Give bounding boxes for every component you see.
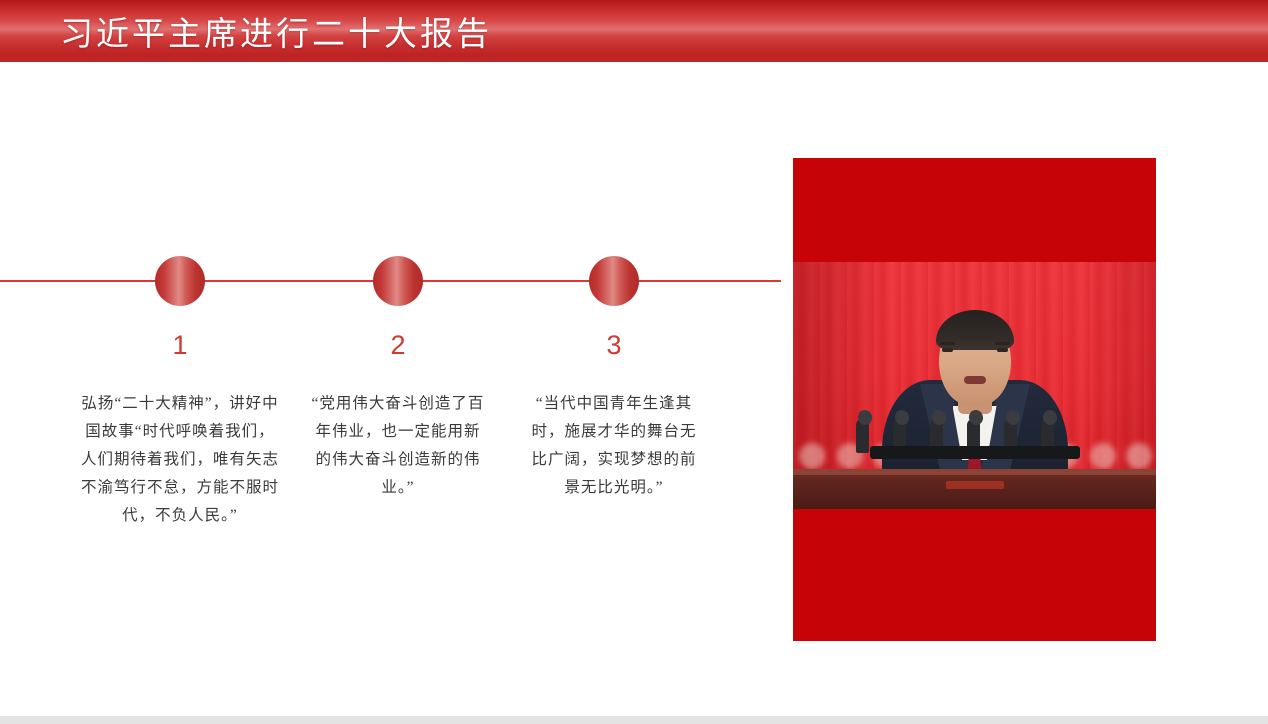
timeline-marker-icon bbox=[589, 256, 639, 306]
page-title: 习近平主席进行二十大报告 bbox=[60, 7, 492, 55]
podium bbox=[793, 469, 1156, 509]
microphone-icon bbox=[856, 419, 869, 453]
speaker-photo bbox=[793, 262, 1156, 509]
timeline-node-text: 弘扬“二十大精神”，讲好中国故事“时代呼唤着我们，人们期待着我们，唯有矢志不渝笃… bbox=[80, 390, 280, 530]
eye-right bbox=[997, 348, 1008, 352]
slide-canvas: 习近平主席进行二十大报告 1 弘扬“二十大精神”，讲好中国故事“时代呼唤着我们，… bbox=[0, 0, 1268, 724]
eyebrow-left bbox=[940, 342, 955, 345]
timeline-marker-icon bbox=[155, 256, 205, 306]
bottom-strip bbox=[0, 716, 1268, 724]
timeline-marker-icon bbox=[373, 256, 423, 306]
timeline-node-number: 2 bbox=[373, 332, 423, 359]
photo-frame bbox=[793, 158, 1156, 641]
podium-emblem bbox=[946, 481, 1004, 489]
mouth bbox=[964, 376, 986, 384]
timeline-node-number: 3 bbox=[589, 332, 639, 359]
eye-left bbox=[942, 348, 953, 352]
microphone-mount-bar bbox=[870, 446, 1080, 459]
timeline-node-text: “党用伟大奋斗创造了百年伟业，也一定能用新的伟大奋斗创造新的伟业。” bbox=[311, 390, 485, 502]
timeline-node-number: 1 bbox=[155, 332, 205, 359]
podium-edge bbox=[793, 469, 1156, 475]
header-banner: 习近平主席进行二十大报告 bbox=[0, 0, 1268, 62]
eyebrow-right bbox=[995, 342, 1010, 345]
timeline-node-text: “当代中国青年生逢其时，施展才华的舞台无比广阔，实现梦想的前景无比光明。” bbox=[527, 390, 701, 502]
